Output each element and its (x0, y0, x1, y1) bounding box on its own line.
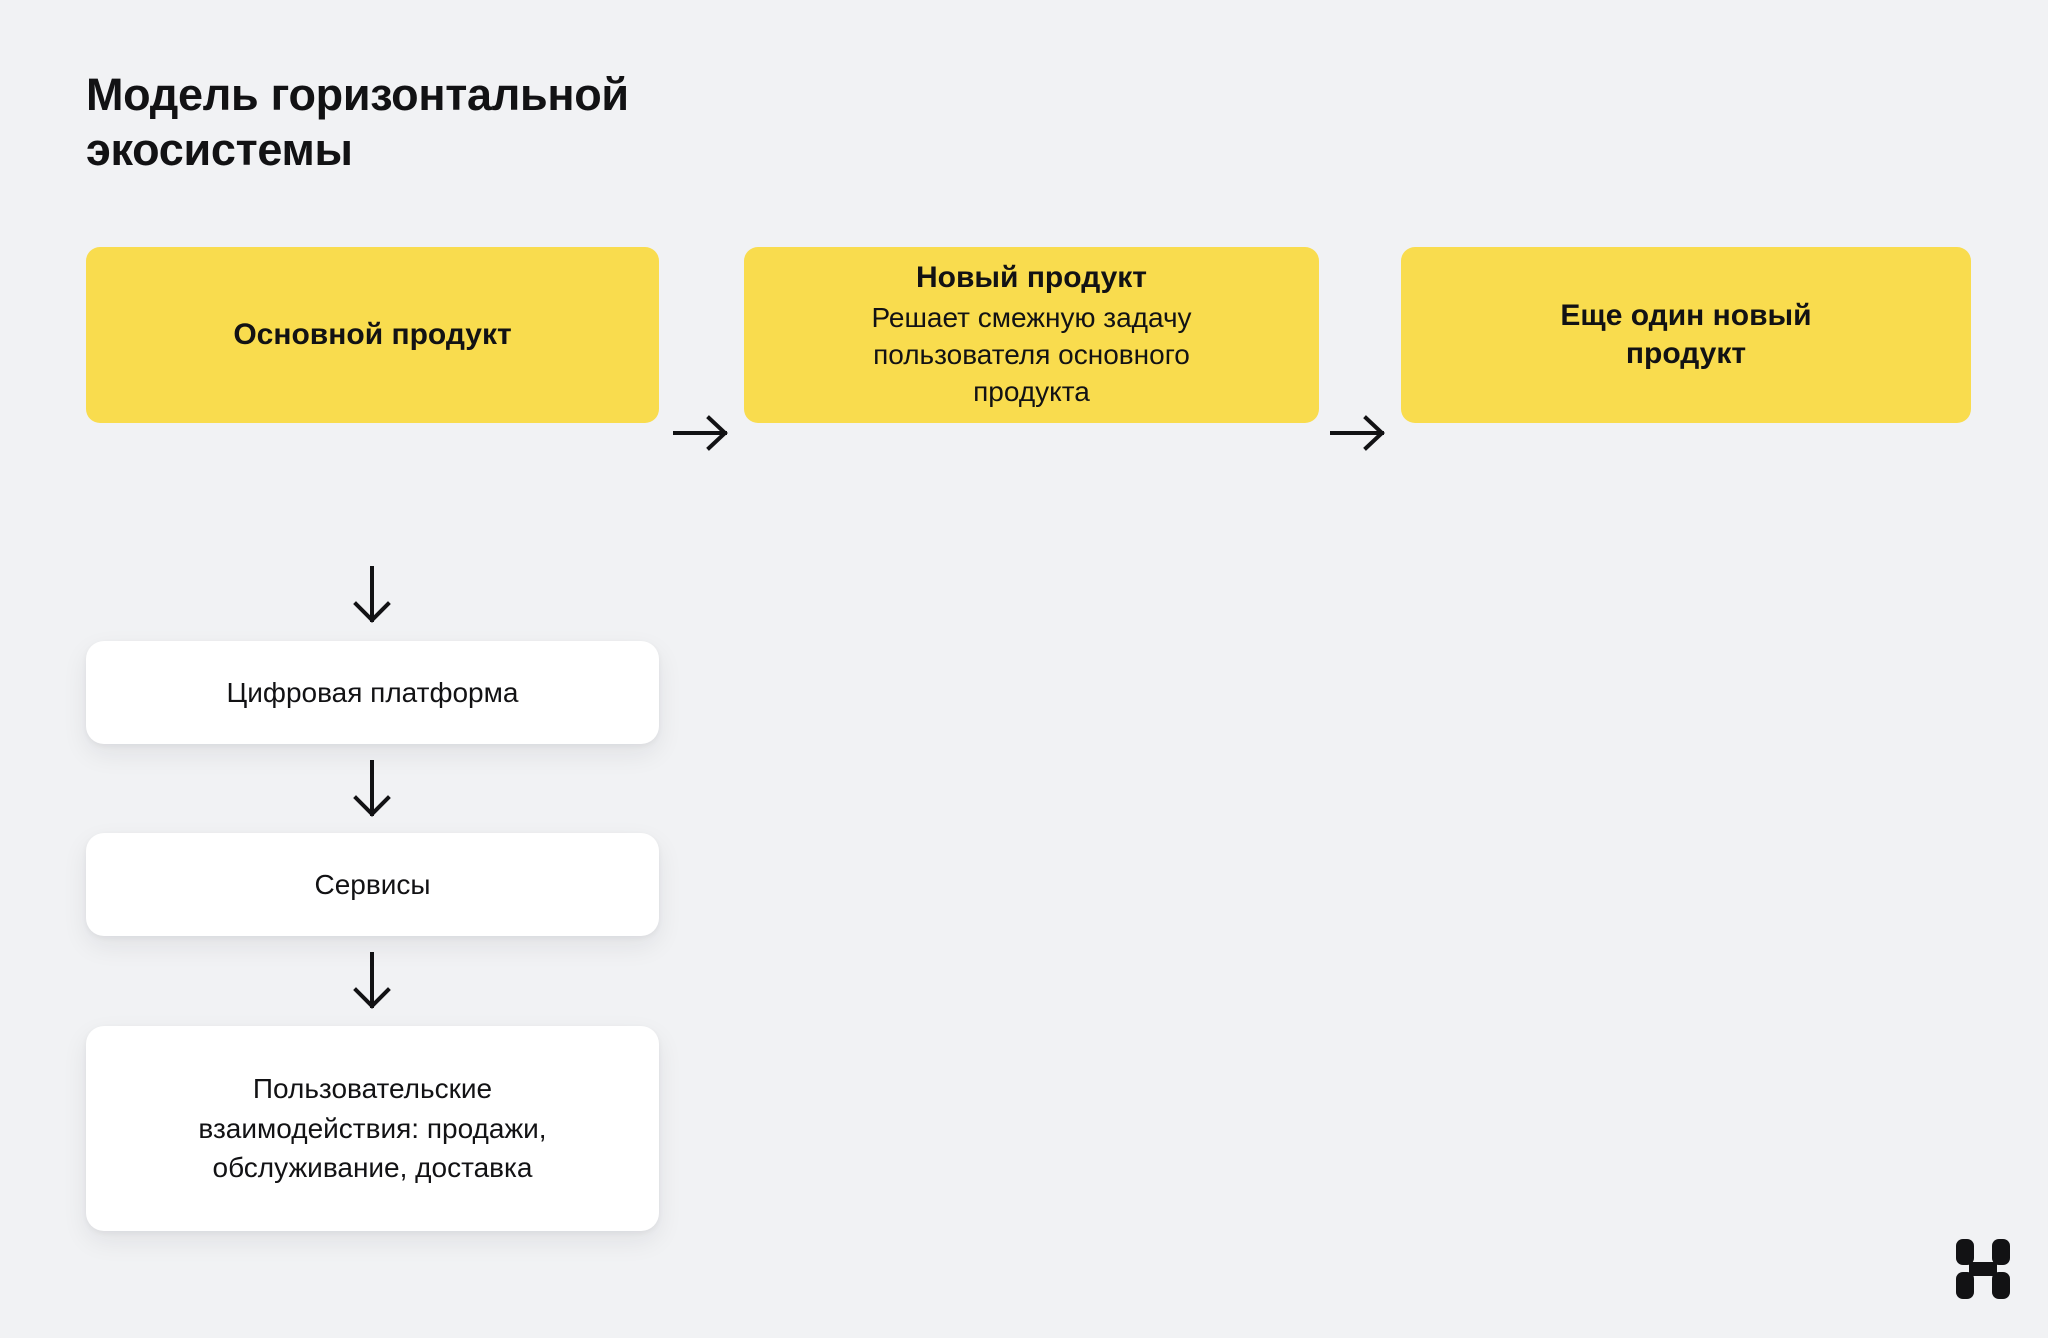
layer-card-services-label: Сервисы (314, 865, 430, 905)
product-box-new[interactable]: Новый продукт Решает смежную задачу поль… (744, 247, 1319, 423)
h-logo-icon (1955, 1238, 2011, 1300)
arrow-down-icon (343, 952, 401, 1014)
layer-card-services[interactable]: Сервисы (86, 833, 659, 936)
diagram-page: Модель горизонтальной экосистемы Основно… (0, 0, 2048, 1338)
arrow-right-icon (673, 411, 733, 455)
page-title: Модель горизонтальной экосистемы (86, 68, 886, 178)
layer-card-user-interactions-label: Пользовательские взаимодействия: продажи… (198, 1069, 546, 1188)
product-box-new-title: Новый продукт (916, 259, 1147, 297)
product-flow-row: Основной продукт Новый продукт Решает см… (0, 247, 2048, 423)
arrow-down-icon (343, 566, 401, 628)
layer-card-digital-platform-label: Цифровая платформа (227, 673, 519, 713)
product-box-new-description: Решает смежную задачу пользователя основ… (871, 300, 1191, 411)
arrow-right-icon (1330, 411, 1390, 455)
product-box-core-title: Основной продукт (233, 316, 511, 354)
arrow-down-icon (343, 760, 401, 822)
layer-card-digital-platform[interactable]: Цифровая платформа (86, 641, 659, 744)
product-box-another-new[interactable]: Еще один новый продукт (1401, 247, 1971, 423)
product-box-another-new-title: Еще один новый продукт (1560, 297, 1811, 374)
product-box-core[interactable]: Основной продукт (86, 247, 659, 423)
layer-card-user-interactions[interactable]: Пользовательские взаимодействия: продажи… (86, 1026, 659, 1231)
